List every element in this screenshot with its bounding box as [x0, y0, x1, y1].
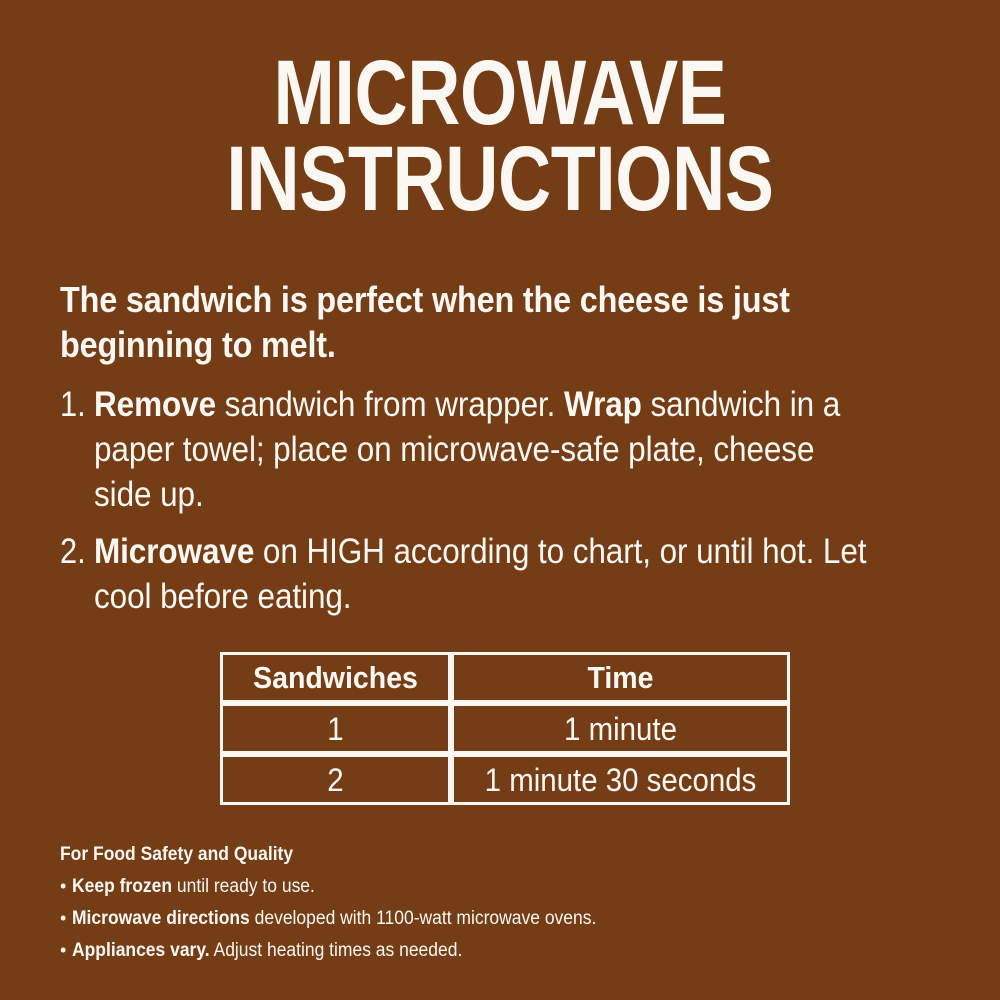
table-header-row: Sandwiches Time [220, 652, 790, 703]
cooking-time-chart: Sandwiches Time 1 1 minute 2 [220, 652, 778, 805]
table-cell-sandwiches: 2 [220, 754, 451, 805]
table-cell-time: 1 minute 30 seconds [451, 754, 790, 805]
bullet-icon: • [60, 941, 72, 959]
table-header-time: Time [451, 652, 790, 703]
fineprint-text: Appliances vary. Adjust heating times as… [72, 941, 871, 960]
title-line-microwave: MICROWAVE [100, 50, 900, 136]
step-text: Microwave on HIGH according to chart, or… [94, 530, 873, 620]
instruction-step: 1. Remove sandwich from wrapper. Wrap sa… [60, 383, 960, 517]
fineprint-text: Microwave directions developed with 1100… [72, 909, 871, 928]
table-row: 1 1 minute [220, 703, 790, 754]
instruction-steps-list: 1. Remove sandwich from wrapper. Wrap sa… [60, 383, 960, 633]
table-cell-time: 1 minute [451, 703, 790, 754]
fineprint-item: • Microwave directions developed with 11… [60, 909, 940, 928]
lead-sentence: The sandwich is perfect when the cheese … [60, 277, 843, 368]
table-header-sandwiches: Sandwiches [220, 652, 451, 703]
step-number: 1. [60, 383, 90, 428]
bullet-icon: • [60, 877, 72, 895]
title-line-instructions: INSTRUCTIONS [100, 136, 900, 222]
bullet-icon: • [60, 909, 72, 927]
step-number: 2. [60, 530, 90, 575]
fineprint-heading: For Food Safety and Quality [60, 845, 870, 864]
instruction-step: 2. Microwave on HIGH according to chart,… [60, 530, 960, 620]
table-row: 2 1 minute 30 seconds [220, 754, 790, 805]
fineprint-item: • Keep frozen until ready to use. [60, 877, 940, 896]
fineprint-item: • Appliances vary. Adjust heating times … [60, 941, 940, 960]
page-title: MICROWAVE INSTRUCTIONS [0, 50, 1000, 223]
fineprint-section: For Food Safety and Quality • Keep froze… [60, 845, 940, 973]
table-cell-sandwiches: 1 [220, 703, 451, 754]
step-text: Remove sandwich from wrapper. Wrap sandw… [94, 383, 873, 517]
time-table: Sandwiches Time 1 1 minute 2 [220, 652, 790, 805]
fineprint-text: Keep frozen until ready to use. [72, 877, 871, 896]
microwave-instructions-panel: MICROWAVE INSTRUCTIONS The sandwich is p… [0, 0, 1000, 1000]
